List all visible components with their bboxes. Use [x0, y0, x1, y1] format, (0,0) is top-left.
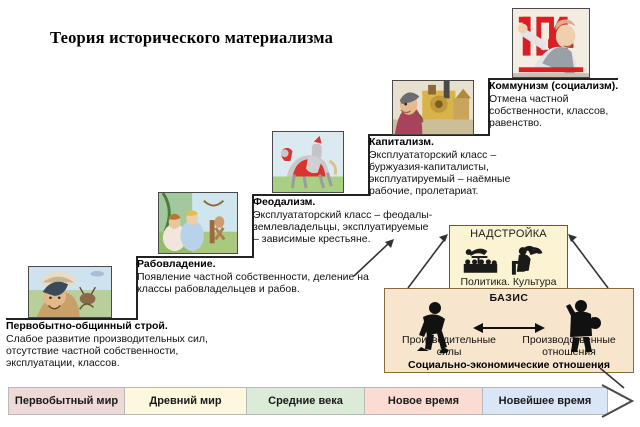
stage-primitive: Первобытно-общинный строй. Слабое развит…	[6, 320, 216, 369]
superstructure-label: НАДСТРОЙКА	[470, 228, 547, 240]
stage-body: Появление частной собственности, деление…	[137, 271, 385, 296]
stage-capitalism: Капитализм. Эксплуататорский класс – бур…	[369, 136, 551, 198]
medieval-knight-illustration	[272, 131, 344, 193]
stage-heading: Капитализм.	[369, 136, 551, 149]
productive-forces-label: Производительные силы	[391, 334, 507, 358]
feudalism-to-model-arrow	[352, 236, 396, 278]
stage-heading: Рабовладение.	[137, 258, 385, 271]
stage-communism: Коммунизм (социализм). Отмена частной со…	[489, 80, 619, 129]
page-title: Теория исторического материализма	[50, 28, 333, 48]
politics-culture-icon	[450, 240, 567, 276]
timeline-segment-ancient[interactable]: Древний мир	[124, 387, 246, 415]
stage-heading: Первобытно-общинный строй.	[6, 320, 216, 333]
stage-heading: Коммунизм (социализм).	[489, 80, 619, 93]
production-relations-label: Производственные отношения	[509, 334, 629, 358]
stage-heading: Феодализм.	[253, 196, 435, 209]
superstructure-sublabel: Политика. Культура	[461, 276, 557, 288]
basis-to-superstructure-arrow-right	[562, 228, 612, 292]
timeline-bar: Первобытный мир Древний мир Средние века…	[8, 387, 608, 415]
timeline-segment-contemporary[interactable]: Новейшее время	[482, 387, 608, 415]
timeline-segment-primitive[interactable]: Первобытный мир	[8, 387, 124, 415]
timeline-segment-middle-ages[interactable]: Средние века	[246, 387, 364, 415]
stage-slavery: Рабовладение. Появление частной собствен…	[137, 258, 385, 295]
ancient-slavery-illustration	[158, 192, 238, 254]
soviet-lenin-poster-illustration	[512, 8, 590, 78]
superstructure-box: НАДСТРОЙКА Политика. Культур	[449, 225, 568, 290]
primitive-hunter-illustration	[28, 266, 112, 318]
double-arrow-icon	[471, 322, 547, 334]
infographic-canvas: Теория исторического материализма	[0, 0, 640, 427]
stage-body: Эксплуататорский класс – буржуазия-капит…	[369, 149, 551, 198]
basis-box: БАЗИС	[384, 288, 634, 373]
timeline-arrow-head-icon	[600, 384, 634, 418]
basis-to-superstructure-arrow-left	[404, 228, 454, 292]
factory-capitalist-illustration	[392, 80, 474, 135]
stage-body: Отмена частной собственности, классов, р…	[489, 93, 619, 130]
stage-body: Слабое развитие производительных сил, от…	[6, 333, 216, 370]
timeline-segment-modern[interactable]: Новое время	[364, 387, 482, 415]
